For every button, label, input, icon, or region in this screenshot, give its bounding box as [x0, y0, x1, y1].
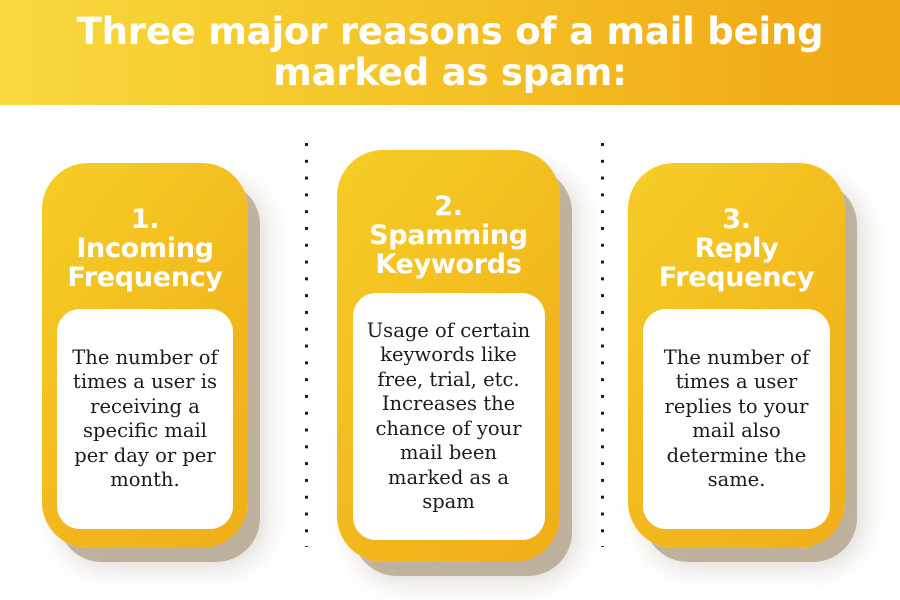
reason-card-1: 1. Incoming Frequency The number of time…	[42, 163, 248, 548]
reason-card-2-heading: 2. Spamming Keywords	[337, 192, 560, 279]
header-banner: Three major reasons of a mail being mark…	[0, 0, 900, 105]
reason-card-3-body: The number of times a user replies to yo…	[643, 309, 830, 529]
page-title: Three major reasons of a mail being mark…	[20, 11, 880, 93]
reason-card-1-body: The number of times a user is receiving …	[57, 309, 233, 529]
reason-card-2: 2. Spamming Keywords Usage of certain ke…	[337, 150, 560, 562]
reasons-card-group: 1. Incoming Frequency The number of time…	[0, 105, 900, 600]
dotted-divider-2	[601, 143, 604, 547]
reason-card-3: 3. Reply Frequency The number of times a…	[628, 163, 845, 548]
dotted-divider-1	[305, 143, 308, 547]
reason-card-1-heading: 1. Incoming Frequency	[42, 205, 248, 292]
reason-card-3-heading: 3. Reply Frequency	[628, 205, 845, 292]
reason-card-2-body: Usage of certain keywords like free, tri…	[353, 293, 545, 540]
